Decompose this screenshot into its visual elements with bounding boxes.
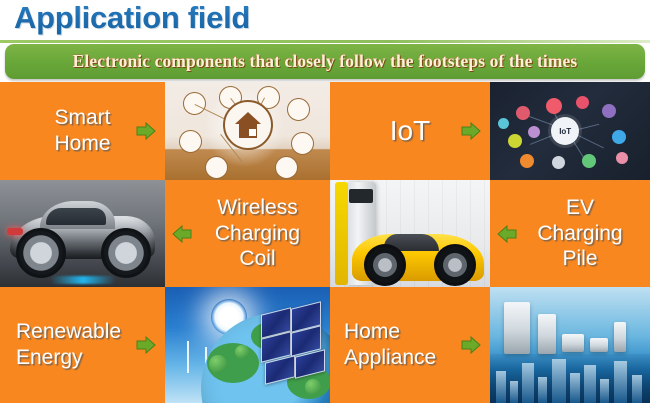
arrow-left-icon <box>171 224 193 244</box>
sh-icon-node <box>205 156 228 179</box>
iot-node <box>602 104 616 118</box>
iot-node <box>508 134 522 148</box>
iot-node <box>498 118 509 129</box>
cell-renewable-energy-label-pane: Renewable Energy <box>0 287 165 403</box>
sports-car-image <box>0 180 165 287</box>
cell-wireless-charging-coil-label-pane: Wireless Charging Coil <box>165 180 330 287</box>
cell-smart-home[interactable]: Smart Home <box>0 82 330 180</box>
iot-node <box>616 152 628 164</box>
iot-node <box>516 106 530 120</box>
cell-renewable-energy[interactable]: Renewable Energy <box>0 287 330 403</box>
sh-icon-node <box>291 132 314 155</box>
iot-hub-label: IoT <box>551 117 579 145</box>
subtitle-banner-text: Electronic components that closely follo… <box>73 51 578 72</box>
cell-smart-home-label-pane: Smart Home <box>0 82 165 180</box>
ev-charging-image <box>330 180 490 287</box>
arrow-right-icon <box>460 335 482 355</box>
sh-icon-node <box>179 130 202 153</box>
application-grid: Smart Home <box>0 82 650 403</box>
refrigerator-icon <box>504 302 530 354</box>
slide-root: Application field Application field Elec… <box>0 0 650 403</box>
renewable-energy-image <box>165 287 330 403</box>
sh-icon-node <box>275 156 298 179</box>
cell-iot[interactable]: IoT <box>330 82 650 180</box>
arrow-left-icon <box>496 224 518 244</box>
cell-renewable-energy-label: Renewable Energy <box>0 319 127 370</box>
iot-node <box>546 98 562 114</box>
iot-node <box>582 154 596 168</box>
cell-wireless-charging-coil[interactable]: Wireless Charging Coil <box>0 180 330 287</box>
arrow-right-icon <box>135 335 157 355</box>
cell-home-appliance[interactable]: Home Appliance <box>330 287 650 403</box>
home-appliance-image <box>490 287 650 403</box>
water-heater-icon <box>614 322 626 352</box>
sh-icon-node <box>287 98 310 121</box>
iot-node <box>552 156 565 169</box>
city-skyline <box>490 354 650 403</box>
title-area: Application field Application field <box>0 0 650 44</box>
subtitle-banner: Electronic components that closely follo… <box>5 44 645 79</box>
page-title: Application field <box>14 0 250 39</box>
arrow-right-icon <box>135 121 157 141</box>
iot-node <box>520 154 534 168</box>
smart-home-image <box>165 82 330 180</box>
title-underline-rule <box>0 40 650 43</box>
range-hood-icon <box>562 334 584 352</box>
cell-home-appliance-label: Home Appliance <box>330 319 442 370</box>
cell-iot-label-pane: IoT <box>330 82 490 180</box>
taillight-icon <box>7 228 23 235</box>
charger-screen <box>349 189 373 203</box>
cell-ev-charging-pile-label-pane: EV Charging Pile <box>490 180 650 287</box>
iot-node <box>528 126 540 138</box>
microwave-icon <box>590 338 608 352</box>
wireless-charging-glow <box>50 276 116 284</box>
washer-icon <box>538 314 556 354</box>
arrow-right-icon <box>460 121 482 141</box>
iot-network-image: IoT <box>490 82 650 180</box>
iot-node <box>576 96 589 109</box>
cell-ev-charging-pile[interactable]: EV Charging Pile <box>330 180 650 287</box>
iot-node <box>612 130 626 144</box>
cell-home-appliance-label-pane: Home Appliance <box>330 287 490 403</box>
